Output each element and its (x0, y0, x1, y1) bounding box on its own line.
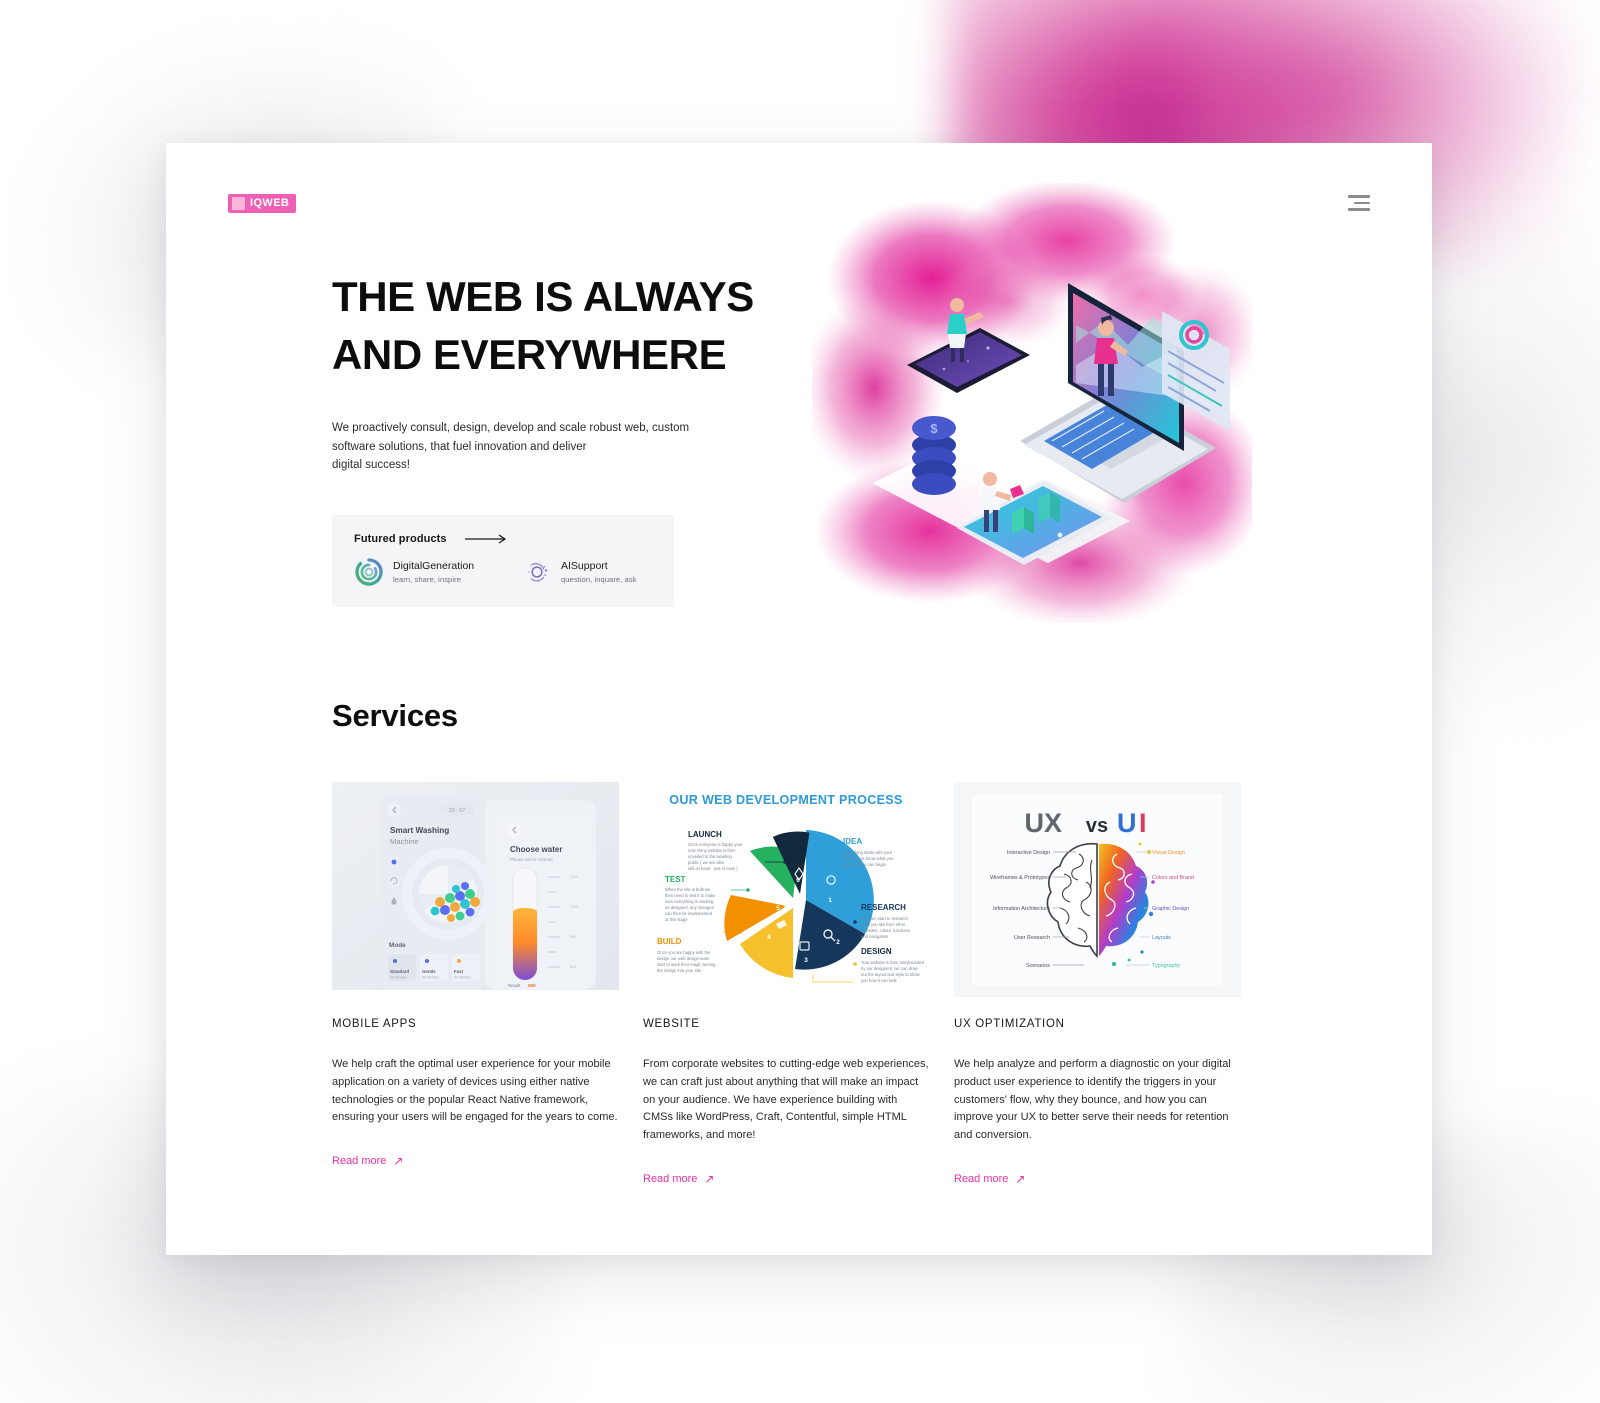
featured-product-name: DigitalGeneration (393, 560, 474, 574)
svg-text:1200: 1200 (570, 875, 578, 879)
svg-text:600: 600 (570, 965, 576, 969)
svg-text:Everything starts with your: Everything starts with your (843, 850, 893, 855)
svg-text:new shiny website is then: new shiny website is then (688, 848, 736, 853)
read-more-label: Read more (332, 1155, 386, 1167)
svg-text:Once everyone is happy your: Once everyone is happy your (688, 842, 743, 847)
svg-text:UX: UX (1024, 808, 1062, 838)
svg-text:Your website is then storyboar: Your website is then storyboarded (861, 960, 925, 965)
svg-text:websites, colour, functions: websites, colour, functions (861, 928, 910, 933)
svg-text:the design into your site: the design into your site (657, 968, 702, 973)
read-more-label: Read more (643, 1173, 697, 1185)
svg-text:Wireframes & Prototypes: Wireframes & Prototypes (990, 875, 1050, 881)
svg-text:at this stage: at this stage (665, 917, 688, 922)
svg-text:30 minutes: 30 minutes (390, 976, 407, 980)
service-card-mobile-apps: 29 : 57 Smart Washing Machine (332, 782, 619, 1187)
svg-text:5: 5 (776, 905, 780, 912)
read-more-link[interactable]: Read more ↗ (332, 1155, 403, 1167)
svg-text:DESIGN: DESIGN (861, 947, 892, 956)
svg-text:sure everything is working: sure everything is working (665, 899, 714, 904)
featured-product-tagline: learn, share, inspire (393, 575, 474, 584)
svg-text:U: U (1117, 808, 1137, 838)
svg-text:Please select minimal: Please select minimal (510, 857, 552, 862)
hero-subtitle: We proactively consult, design, develop … (332, 419, 710, 475)
svg-text:LAUNCH: LAUNCH (688, 830, 722, 839)
featured-product-tagline: question, inquare, ask (561, 575, 637, 584)
featured-products-card: Futured products (332, 515, 674, 607)
svg-text:20 minutes: 20 minutes (454, 976, 471, 980)
services-card-list: 29 : 57 Smart Washing Machine (332, 782, 1242, 1187)
svg-text:Mode: Mode (389, 942, 406, 949)
svg-text:Information Architecture: Information Architecture (993, 906, 1050, 912)
service-card-ux-optimization: UX vs U I (954, 782, 1241, 1187)
svg-text:and navigation: and navigation (861, 934, 889, 939)
ux-vs-ui-brain-infographic-icon: UX vs U I (954, 782, 1241, 997)
coin-stack: $ (912, 416, 956, 495)
svg-text:Gentle: Gentle (422, 969, 436, 974)
svg-text:Scenarios: Scenarios (1026, 963, 1050, 969)
svg-text:TEST: TEST (665, 875, 686, 884)
read-more-link[interactable]: Read more ↗ (954, 1173, 1025, 1185)
svg-text:Interactive Design: Interactive Design (1007, 850, 1050, 856)
svg-text:what you like from other: what you like from other (861, 922, 906, 927)
svg-text:User Research: User Research (1014, 935, 1050, 941)
hero-subtitle-line-1: We proactively consult, design, develop … (332, 422, 689, 434)
hero-subtitle-line-3: digital success! (332, 459, 410, 471)
svg-text:2: 2 (836, 939, 840, 946)
arrow-up-right-icon: ↗ (1015, 1173, 1025, 1185)
aisupport-logo-icon (522, 557, 552, 587)
service-card-body: We help craft the optimal user experienc… (332, 1056, 619, 1127)
arrow-up-right-icon: ↗ (704, 1173, 714, 1185)
svg-text:29 : 57: 29 : 57 (449, 808, 466, 814)
smart-washing-machine-mockup-icon: 29 : 57 Smart Washing Machine (332, 782, 619, 990)
featured-product-item[interactable]: DigitalGeneration learn, share, inspire (354, 557, 484, 587)
svg-text:1: 1 (828, 897, 832, 904)
svg-text:want and we can begin: want and we can begin (843, 862, 887, 867)
service-card-image: 29 : 57 Smart Washing Machine (332, 782, 619, 990)
svg-text:then need to test it to make: then need to test it to make (665, 893, 716, 898)
hero-illustration: $ (812, 183, 1252, 623)
svg-text:Smart Washing: Smart Washing (390, 826, 449, 835)
featured-product-name: AISupport (561, 560, 637, 574)
svg-text:I: I (1139, 808, 1147, 838)
featured-products-header: Futured products (354, 533, 652, 545)
read-more-link[interactable]: Read more ↗ (643, 1173, 714, 1185)
read-more-label: Read more (954, 1173, 1008, 1185)
service-card-title: MOBILE APPS (332, 1018, 619, 1030)
svg-text:out the layout and style to sh: out the layout and style to show (861, 972, 921, 977)
svg-text:We then start to research: We then start to research (861, 916, 909, 921)
arrow-right-icon[interactable] (465, 534, 509, 544)
svg-text:Graphic Design: Graphic Design (1152, 906, 1189, 912)
svg-text:Visual Design: Visual Design (1152, 850, 1185, 856)
svg-text:public ( we are also: public ( we are also (688, 860, 725, 865)
services-heading: Services (332, 698, 458, 734)
svg-text:Fast: Fast (454, 969, 464, 974)
svg-text:$: $ (930, 421, 938, 436)
svg-text:Once you are happy with the: Once you are happy with the (657, 950, 711, 955)
digitalgeneration-logo-icon (354, 557, 384, 587)
svg-text:unveiled to the awaiting: unveiled to the awaiting (688, 854, 732, 859)
svg-text:Standard: Standard (390, 969, 409, 974)
hero-section: THE WEB IS ALWAYS AND EVERYWHERE We proa… (166, 143, 1432, 673)
svg-text:900: 900 (528, 983, 536, 988)
hero-subtitle-line-2: software solutions, that fuel innovation… (332, 441, 586, 453)
svg-text:Machine: Machine (390, 837, 419, 846)
service-card-body: We help analyze and perform a diagnostic… (954, 1056, 1241, 1145)
svg-text:1000: 1000 (570, 905, 578, 909)
svg-text:RESEARCH: RESEARCH (861, 903, 906, 912)
svg-text:as designed, any changes: as designed, any changes (665, 905, 714, 910)
svg-text:Choose water: Choose water (510, 845, 562, 854)
svg-text:design our web design team: design our web design team (657, 956, 710, 961)
svg-text:start to work their magic turn: start to work their magic turning (657, 962, 716, 967)
service-card-image: UX vs U I (954, 782, 1241, 997)
svg-text:BUILD: BUILD (657, 937, 682, 946)
service-card-title: UX OPTIMIZATION (954, 1018, 1241, 1030)
featured-products-title: Futured products (354, 533, 447, 545)
featured-products-list: DigitalGeneration learn, share, inspire (354, 557, 652, 587)
web-development-process-infographic-icon: OUR WEB DEVELOPMENT PROCESS 1 2 (643, 782, 930, 990)
isometric-devices-illustration: $ (812, 183, 1252, 623)
svg-text:idea, Let us know what you: idea, Let us know what you (843, 856, 894, 861)
svg-text:vs: vs (1086, 815, 1108, 837)
featured-product-item[interactable]: AISupport question, inquare, ask (522, 557, 652, 587)
service-card-website: OUR WEB DEVELOPMENT PROCESS 1 2 (643, 782, 930, 1187)
svg-text:Typography: Typography (1152, 963, 1180, 969)
svg-text:When the site is built we: When the site is built we (665, 887, 711, 892)
svg-text:4: 4 (767, 934, 771, 941)
hero-title-line-2: AND EVERYWHERE (332, 331, 726, 378)
svg-text:IDEA: IDEA (843, 837, 862, 846)
svg-text:by our designers, we can draw: by our designers, we can draw (861, 966, 919, 971)
svg-text:can then be implemented: can then be implemented (665, 911, 713, 916)
service-card-image: OUR WEB DEVELOPMENT PROCESS 1 2 (643, 782, 930, 990)
svg-text:OUR WEB DEVELOPMENT PROCESS: OUR WEB DEVELOPMENT PROCESS (669, 793, 902, 807)
svg-text:3: 3 (804, 957, 808, 964)
svg-text:45 minutes: 45 minutes (422, 976, 439, 980)
service-card-title: WEBSITE (643, 1018, 930, 1030)
page-title: THE WEB IS ALWAYS AND EVERYWHERE (332, 268, 812, 384)
svg-text:Layouts: Layouts (1152, 935, 1171, 941)
hero-title-line-1: THE WEB IS ALWAYS (332, 273, 754, 320)
arrow-up-right-icon: ↗ (393, 1155, 403, 1167)
svg-text:still on hand - just in case ): still on hand - just in case ) (688, 866, 738, 871)
hero-copy: THE WEB IS ALWAYS AND EVERYWHERE We proa… (332, 268, 812, 475)
svg-text:800: 800 (570, 935, 576, 939)
svg-text:Colors and Brand: Colors and Brand (1152, 875, 1194, 881)
service-card-body: From corporate websites to cutting-edge … (643, 1056, 930, 1145)
svg-text:Result: Result (508, 983, 521, 988)
svg-text:you how it can look: you how it can look (861, 978, 898, 983)
